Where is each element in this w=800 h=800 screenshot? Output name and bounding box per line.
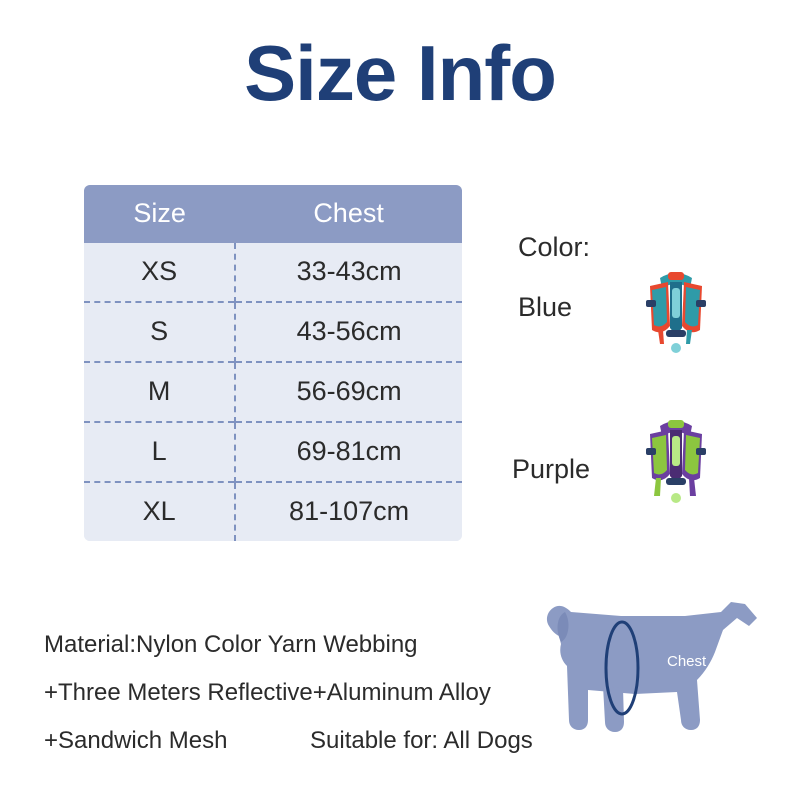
color-heading: Color: (518, 232, 590, 263)
color-option-label-purple: Purple (512, 454, 590, 485)
cell-size: XL (84, 482, 235, 541)
cell-chest: 43-56cm (235, 302, 462, 362)
cell-size: S (84, 302, 235, 362)
footer-mesh-line: +Sandwich Mesh (44, 727, 227, 755)
table-row: XL 81-107cm (84, 482, 462, 541)
table-body: XS 33-43cm S 43-56cm M 56-69cm L 69-81cm… (84, 243, 462, 541)
table-header-row: Size Chest (84, 185, 462, 243)
cell-size: M (84, 362, 235, 422)
column-header-size: Size (84, 185, 235, 243)
size-chart-table: Size Chest XS 33-43cm S 43-56cm M 56-69c… (84, 185, 462, 541)
table-row: M 56-69cm (84, 362, 462, 422)
size-info-infographic: Size Info Size Chest XS 33-43cm S 43-56c… (0, 0, 800, 800)
footer-features-line: +Three Meters Reflective+Aluminum Alloy (44, 679, 491, 707)
cell-size: L (84, 422, 235, 482)
page-title: Size Info (0, 34, 800, 112)
chest-measurement-label: Chest (667, 653, 706, 670)
table-row: XS 33-43cm (84, 243, 462, 302)
table-row: S 43-56cm (84, 302, 462, 362)
table-header: Size Chest (84, 185, 462, 243)
cell-chest: 56-69cm (235, 362, 462, 422)
footer-material-line: Material:Nylon Color Yarn Webbing (44, 631, 418, 659)
cell-chest: 69-81cm (235, 422, 462, 482)
footer-suitable-line: Suitable for: All Dogs (310, 727, 533, 755)
cell-chest: 81-107cm (235, 482, 462, 541)
table-row: L 69-81cm (84, 422, 462, 482)
harness-blue-icon (630, 264, 722, 356)
harness-purple-icon (630, 414, 722, 506)
cell-size: XS (84, 243, 235, 302)
color-option-label-blue: Blue (518, 292, 572, 323)
color-options-section: Color: Blue Purple (512, 232, 792, 532)
column-header-chest: Chest (235, 185, 462, 243)
dog-silhouette-icon: Chest (525, 560, 785, 760)
cell-chest: 33-43cm (235, 243, 462, 302)
